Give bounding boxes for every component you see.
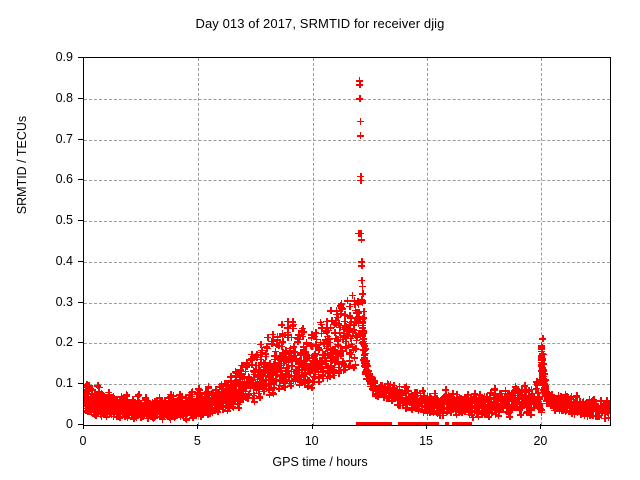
gridline-horizontal [84,140,610,141]
gridline-horizontal [84,262,610,263]
x-tick-label: 20 [520,434,560,448]
y-axis-title: SRMTID / TECUs [15,35,29,295]
chart-title: Day 013 of 2017, SRMTID for receiver dji… [0,16,640,31]
x-tick-label: 0 [63,434,103,448]
x-tick-label: 15 [406,434,446,448]
gridline-horizontal [84,384,610,385]
chart-figure: Day 013 of 2017, SRMTID for receiver dji… [0,0,640,480]
y-tick-label: 0 [11,418,73,430]
gridline-horizontal [84,303,610,304]
gridline-horizontal [84,99,610,100]
y-tick-label: 0.3 [11,296,73,308]
gridline-vertical [198,58,199,425]
x-axis-title: GPS time / hours [0,455,640,469]
x-tick-label: 5 [177,434,217,448]
x-tick-label: 10 [292,434,332,448]
gridlines-layer [84,58,610,425]
gridline-vertical [427,58,428,425]
gridline-vertical [541,58,542,425]
gridline-horizontal [84,221,610,222]
gridline-horizontal [84,180,610,181]
plot-area[interactable] [83,57,611,426]
y-tick-label: 0.2 [11,336,73,348]
y-tick-label: 0.1 [11,377,73,389]
gridline-vertical [313,58,314,425]
gridline-horizontal [84,343,610,344]
